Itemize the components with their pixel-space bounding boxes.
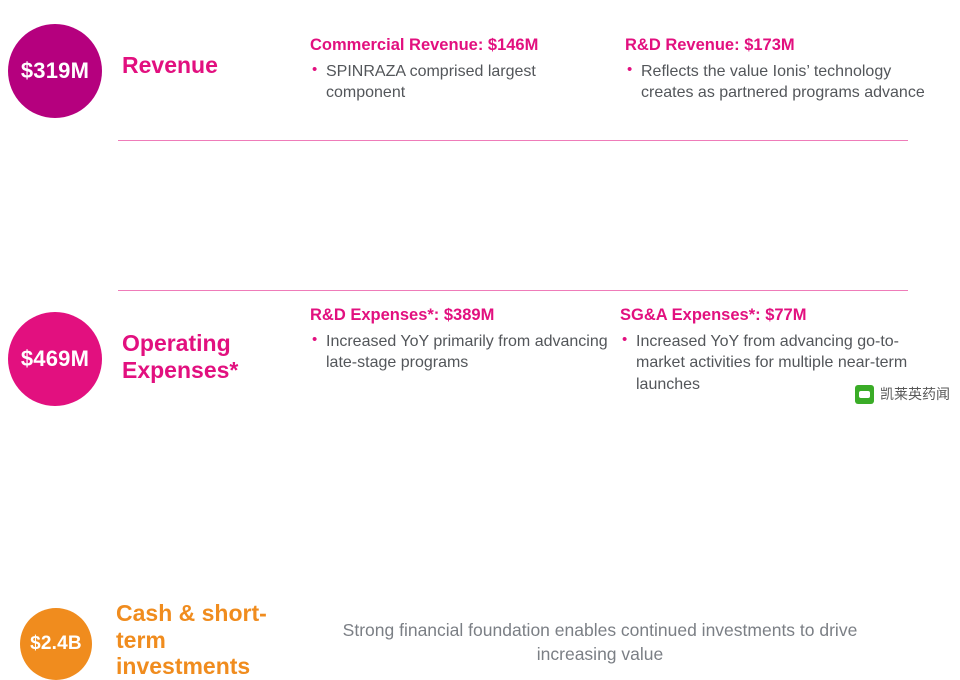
- cash-statement-text: Strong financial foundation enables cont…: [320, 618, 880, 666]
- badge-cash: $2.4B: [20, 608, 92, 680]
- row-revenue: $319M Revenue Commercial Revenue: $146M …: [0, 0, 960, 140]
- wechat-logo-icon: [855, 385, 874, 404]
- commercial-revenue-bullets: SPINRAZA comprised largest component: [310, 61, 610, 104]
- revenue-column-commercial: Commercial Revenue: $146M SPINRAZA compr…: [310, 36, 610, 106]
- badge-revenue: $319M: [8, 24, 102, 118]
- list-item: Reflects the value Ionis’ technology cre…: [625, 61, 945, 104]
- commercial-revenue-heading: Commercial Revenue: $146M: [310, 36, 610, 55]
- rd-revenue-heading: R&D Revenue: $173M: [625, 36, 945, 55]
- badge-cash-value: $2.4B: [30, 633, 82, 655]
- rd-revenue-bullets: Reflects the value Ionis’ technology cre…: [625, 61, 945, 104]
- revenue-column-rd: R&D Revenue: $173M Reflects the value Io…: [625, 36, 945, 106]
- row-cash: $2.4B Cash & short-term investments Stro…: [0, 288, 960, 412]
- list-item: SPINRAZA comprised largest component: [310, 61, 610, 104]
- watermark-label: 凯莱英药闻: [880, 384, 950, 404]
- watermark: 凯莱英药闻: [855, 384, 950, 404]
- badge-revenue-value: $319M: [21, 58, 89, 84]
- category-label-cash: Cash & short-term investments: [116, 600, 296, 680]
- category-label-revenue: Revenue: [122, 52, 292, 79]
- row-operating-expenses: $469M Operating Expenses* R&D Expenses*:…: [0, 140, 960, 288]
- slide-root: $319M Revenue Commercial Revenue: $146M …: [0, 0, 960, 412]
